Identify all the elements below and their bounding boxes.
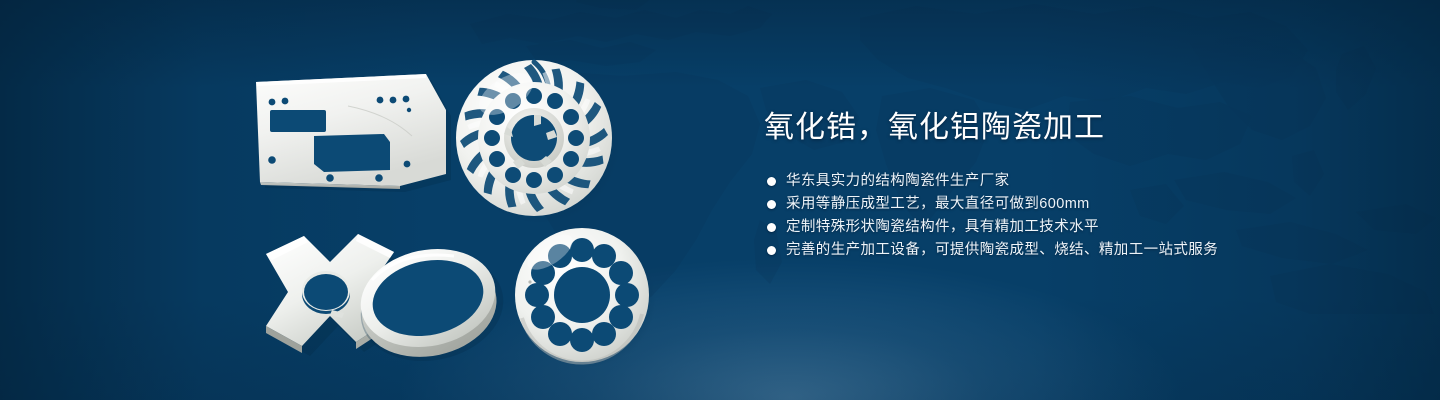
banner-headline: 氧化锆，氧化铝陶瓷加工 [764,108,1382,148]
product-image-ceramic-perforated-disc [508,222,658,372]
feature-list-item: 完善的生产加工设备，可提供陶瓷成型、烧结、精加工一站式服务 [762,239,1382,262]
banner-feature-list: 华东具实力的结构陶瓷件生产厂家 采用等静压成型工艺，最大直径可做到600mm 定… [762,170,1382,262]
product-image-ceramic-vaned-impeller [448,48,624,228]
product-image-ceramic-thin-ring [340,228,515,368]
feature-text: 华东具实力的结构陶瓷件生产厂家 [786,170,1010,193]
bullet-dot-icon [767,223,776,232]
product-image-group [0,0,720,400]
bullet-dot-icon [767,200,776,209]
feature-list-item: 华东具实力的结构陶瓷件生产厂家 [762,170,1382,193]
bullet-dot-icon [767,246,776,255]
feature-text: 采用等静压成型工艺，最大直径可做到600mm [786,193,1090,216]
feature-list-item: 定制特殊形状陶瓷结构件，具有精加工技术水平 [762,216,1382,239]
product-image-ceramic-machined-plate [252,72,452,192]
feature-text: 定制特殊形状陶瓷结构件，具有精加工技术水平 [786,216,1099,239]
banner-copy: 氧化锆，氧化铝陶瓷加工 华东具实力的结构陶瓷件生产厂家 采用等静压成型工艺，最大… [762,108,1382,262]
feature-text: 完善的生产加工设备，可提供陶瓷成型、烧结、精加工一站式服务 [786,239,1218,262]
hero-banner: 氧化锆，氧化铝陶瓷加工 华东具实力的结构陶瓷件生产厂家 采用等静压成型工艺，最大… [0,0,1440,400]
bullet-dot-icon [767,177,776,186]
feature-list-item: 采用等静压成型工艺，最大直径可做到600mm [762,193,1382,216]
